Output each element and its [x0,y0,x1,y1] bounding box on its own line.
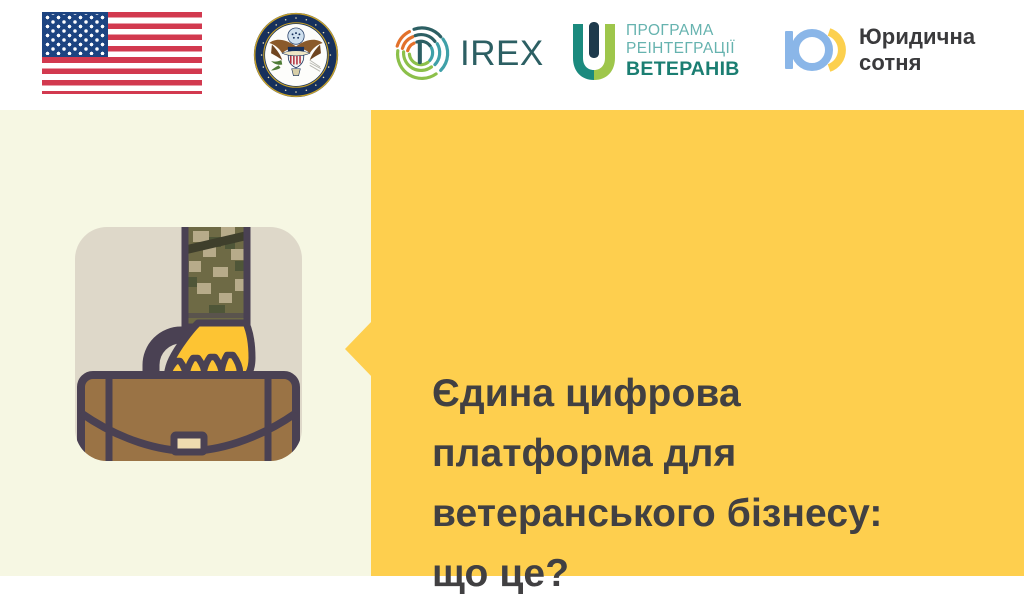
veterans-program-u-mark-icon [571,20,617,82]
veterans-program-line-1: ПРОГРАМА [626,22,740,40]
yurydychna-sotnia-line-1: Юридична [859,24,975,50]
us-flag-logo [42,12,202,94]
us-flag-stars [44,14,106,55]
irex-logo: IREX [392,22,544,84]
partner-logo-bar: IREX ПРОГРАМА РЕІНТЕГРАЦІЇ ВЕТЕРАНІВ [0,0,1024,110]
yurydychna-sotnia-wordmark: Юридична сотня [859,24,975,75]
irex-mark-icon [392,24,450,82]
yurydychna-sotnia-mark-icon [784,27,846,73]
veterans-program-line-3: ВЕТЕРАНІВ [626,58,740,80]
slide-root: IREX ПРОГРАМА РЕІНТЕГРАЦІЇ ВЕТЕРАНІВ [0,0,1024,576]
yurydychna-sotnia-logo: Юридична сотня [784,24,975,75]
page-title: Єдина цифрова платформа для ветеранськог… [432,364,962,604]
us-flag-canton [42,12,108,57]
veterans-program-line-2: РЕІНТЕГРАЦІЇ [626,40,740,58]
veterans-program-wordmark: ПРОГРАМА РЕІНТЕГРАЦІЇ ВЕТЕРАНІВ [626,22,740,80]
irex-wordmark: IREX [460,36,544,71]
slide-body: Єдина цифрова платформа для ветеранськог… [0,110,1024,576]
veterans-reintegration-program-logo: ПРОГРАМА РЕІНТЕГРАЦІЇ ВЕТЕРАНІВ [571,20,740,82]
yurydychna-sotnia-line-2: сотня [859,50,975,76]
illustration-panel [0,110,372,576]
hand-holding-briefcase-icon [75,227,302,461]
us-department-of-state-seal-logo [253,12,339,98]
briefcase-illustration-tile [75,227,302,461]
